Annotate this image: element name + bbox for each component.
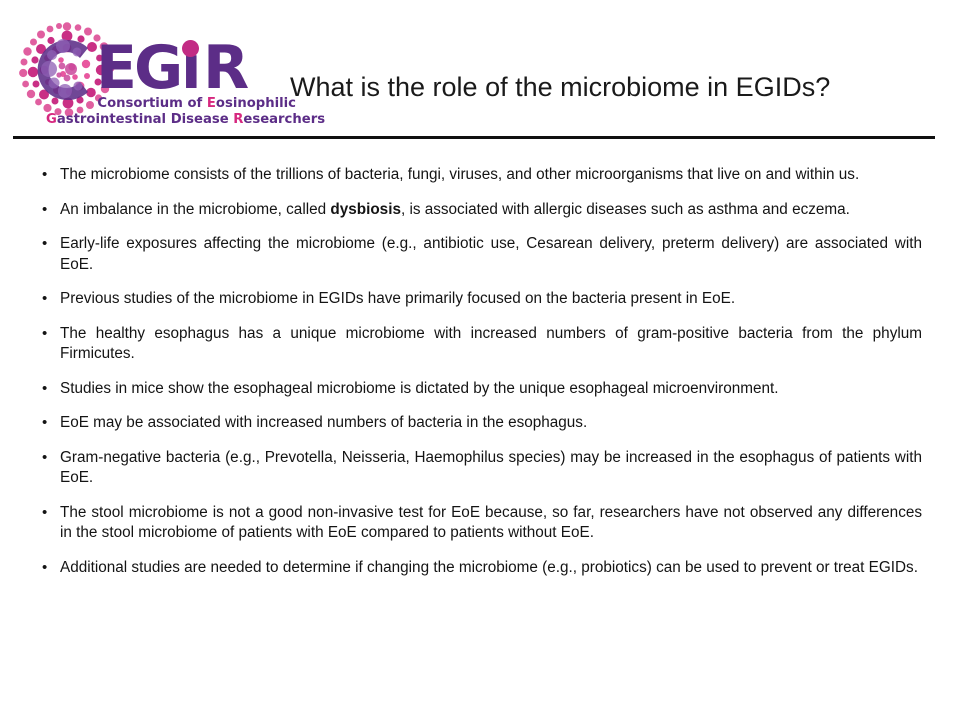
tagline-g: G (46, 112, 57, 127)
list-item: • Studies in mice show the esophageal mi… (36, 379, 924, 400)
bullet-text: Early-life exposures affecting the micro… (60, 234, 924, 275)
bullet-text-pre: An imbalance in the microbiome, called (60, 201, 330, 218)
page-title: What is the role of the microbiome in EG… (290, 70, 930, 104)
tagline-d: D (171, 112, 182, 127)
bullet-text: The healthy esophagus has a unique micro… (60, 324, 924, 365)
list-item: • Early-life exposures affecting the mic… (36, 234, 924, 275)
wordmark-letter-r: R (203, 38, 249, 98)
bullet-marker-icon: • (36, 200, 60, 221)
bullet-text-pre: The microbiome consists of the trillions… (60, 166, 859, 183)
tagline-astrointestinal: astrointestinal (57, 112, 171, 127)
bullet-text: Previous studies of the microbiome in EG… (60, 289, 924, 310)
list-item: • The stool microbiome is not a good non… (36, 503, 924, 544)
bullet-marker-icon: • (36, 324, 60, 345)
bullet-text: Gram-negative bacteria (e.g., Prevotella… (60, 448, 924, 489)
list-item: • An imbalance in the microbiome, called… (36, 200, 924, 221)
bullet-text-bold: dysbiosis (330, 201, 401, 218)
bullet-marker-icon: • (36, 289, 60, 310)
tagline-esearchers: esearchers (243, 112, 325, 127)
wordmark-letter-g: G (134, 38, 183, 98)
list-item: • Previous studies of the microbiome in … (36, 289, 924, 310)
bullet-marker-icon: • (36, 448, 60, 469)
tagline-e: E (207, 96, 216, 111)
tagline-r: R (233, 112, 243, 127)
list-item: • The microbiome consists of the trillio… (36, 165, 924, 186)
bullet-marker-icon: • (36, 234, 60, 255)
bullet-text-pre: Additional studies are needed to determi… (60, 559, 918, 576)
tagline-osinophilic: osinophilic (216, 96, 296, 111)
tagline-onsortium-of: onsortium of (107, 96, 207, 111)
bullet-text: EoE may be associated with increased num… (60, 413, 924, 434)
bullet-text: Studies in mice show the esophageal micr… (60, 379, 924, 400)
list-item: • The healthy esophagus has a unique mic… (36, 324, 924, 365)
cegir-wordmark: E G i R (96, 36, 296, 100)
bullet-list: • The microbiome consists of the trillio… (36, 165, 924, 578)
bullet-text: An imbalance in the microbiome, called d… (60, 200, 924, 221)
bullet-marker-icon: • (36, 379, 60, 400)
bullet-text-pre: The stool microbiome is not a good non-i… (60, 504, 922, 542)
tagline-c: C (97, 96, 107, 111)
bullet-text-pre: Early-life exposures affecting the micro… (60, 235, 922, 273)
bullet-text-pre: EoE may be associated with increased num… (60, 414, 587, 431)
bullet-text-post: , is associated with allergic diseases s… (401, 201, 850, 218)
list-item: • Additional studies are needed to deter… (36, 558, 924, 579)
bullet-text-pre: Studies in mice show the esophageal micr… (60, 380, 779, 397)
bullet-marker-icon: • (36, 503, 60, 524)
bullet-marker-icon: • (36, 165, 60, 186)
bullet-marker-icon: • (36, 558, 60, 579)
bullet-text-pre: Gram-negative bacteria (e.g., Prevotella… (60, 449, 922, 487)
cegir-logo: E G i R Consortium of Eosinophilic Gastr… (14, 20, 292, 132)
list-item: • EoE may be associated with increased n… (36, 413, 924, 434)
bullet-text: Additional studies are needed to determi… (60, 558, 924, 579)
wordmark-dot-icon (182, 40, 199, 57)
bullet-text-pre: The healthy esophagus has a unique micro… (60, 325, 922, 363)
bullet-marker-icon: • (36, 413, 60, 434)
bullet-text: The stool microbiome is not a good non-i… (60, 503, 924, 544)
bullet-text-pre: Previous studies of the microbiome in EG… (60, 290, 735, 307)
bullet-text: The microbiome consists of the trillions… (60, 165, 924, 186)
logo-tagline: Consortium of Eosinophilic Gastrointesti… (46, 96, 296, 128)
header-divider (13, 136, 935, 139)
tagline-isease: isease (182, 112, 234, 127)
slide-header: E G i R Consortium of Eosinophilic Gastr… (0, 0, 960, 145)
wordmark-letter-e: E (96, 38, 135, 98)
list-item: • Gram-negative bacteria (e.g., Prevotel… (36, 448, 924, 489)
